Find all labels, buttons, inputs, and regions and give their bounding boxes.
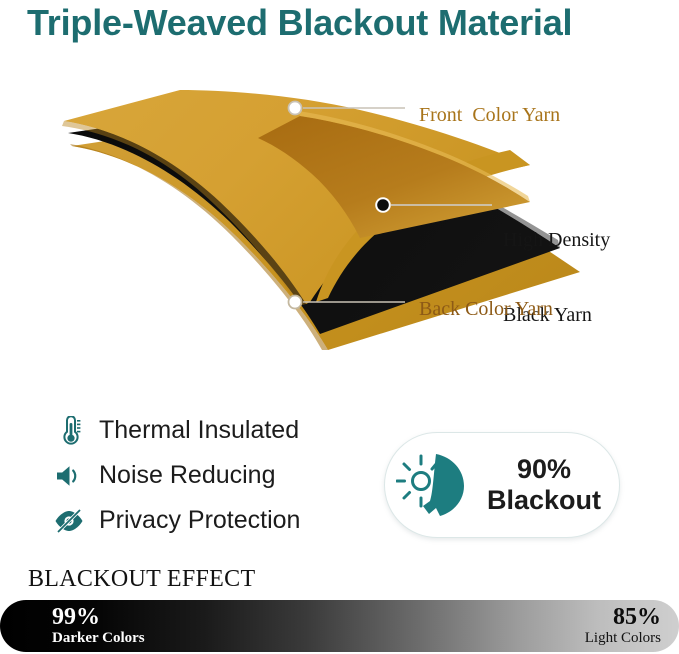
speaker-sound-icon (48, 458, 90, 494)
bar-right-label: Light Colors (585, 630, 661, 647)
bar-right-value-group: 85% Light Colors (585, 600, 661, 652)
eye-slash-icon (48, 503, 90, 539)
diagram-label-back-color-yarn: Back Color Yarn (419, 297, 553, 322)
feature-label: Privacy Protection (99, 506, 300, 535)
feature-item-thermal-insulated: Thermal Insulated (48, 408, 368, 453)
diagram-label-high-density-black-yarn: High Density Black Yarn (503, 178, 610, 353)
feature-list: Thermal Insulated Noise Reducing Privacy… (48, 408, 368, 543)
diagram-label-front-color-yarn: Front Color Yarn (419, 103, 560, 128)
blackout-percentage-badge: 90% Blackout (384, 432, 620, 538)
bar-right-percent: 85% (613, 605, 661, 630)
bar-left-value-group: 99% Darker Colors (52, 600, 145, 652)
bar-left-label: Darker Colors (52, 630, 145, 647)
feature-item-privacy-protection: Privacy Protection (48, 498, 368, 543)
badge-text: 90% Blackout (479, 454, 609, 516)
feature-label: Thermal Insulated (99, 416, 299, 445)
diagram-label-line-1: High Density (503, 228, 610, 253)
bar-left-percent: 99% (52, 605, 100, 630)
badge-percent: 90% (479, 454, 609, 485)
blackout-effect-heading: BLACKOUT EFFECT (28, 566, 255, 593)
badge-word: Blackout (479, 485, 609, 516)
blackout-effect-gradient-bar: 99% Darker Colors 85% Light Colors (0, 600, 679, 652)
feature-item-noise-reducing: Noise Reducing (48, 453, 368, 498)
thermometer-icon (48, 413, 90, 449)
sun-blocked-by-shade-icon (393, 448, 479, 522)
page-title: Triple-Weaved Blackout Material (27, 2, 667, 44)
feature-label: Noise Reducing (99, 461, 276, 490)
